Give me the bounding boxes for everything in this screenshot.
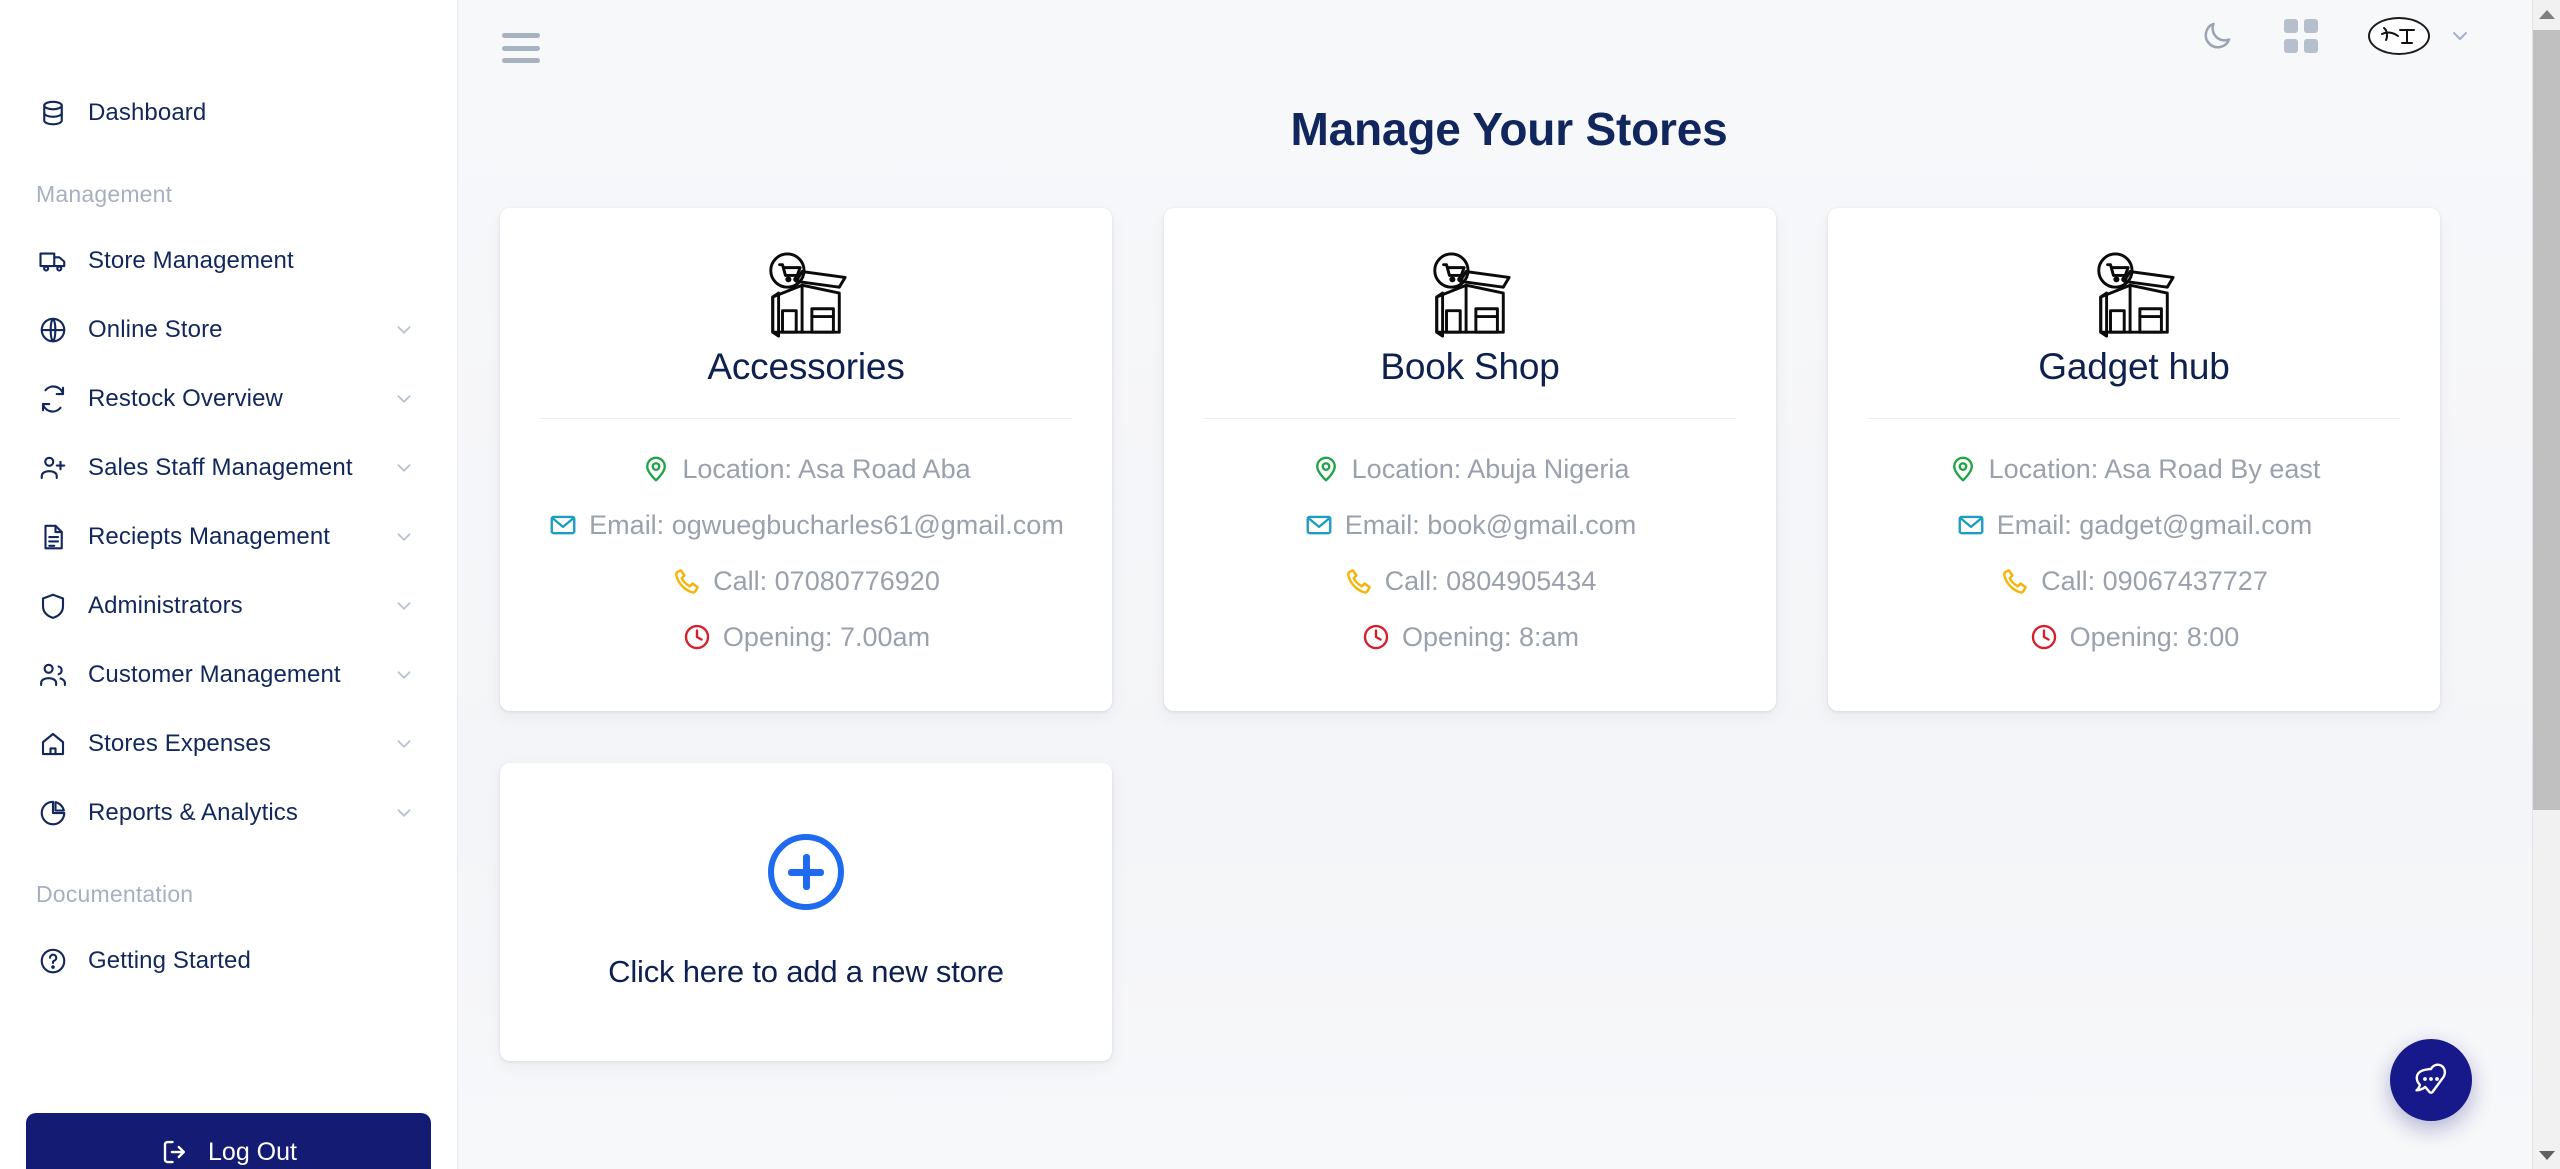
moon-icon[interactable] — [2200, 19, 2234, 53]
scroll-up-button[interactable] — [2533, 0, 2560, 28]
store-location-text: Location: Asa Road By east — [1989, 454, 2321, 485]
sidebar-item-dashboard[interactable]: Dashboard — [0, 78, 457, 147]
sidebar-item-label: Reciepts Management — [88, 523, 393, 551]
add-store-card[interactable]: Click here to add a new store — [500, 763, 1112, 1061]
store-location-row: Location: Asa Road Aba — [534, 441, 1078, 497]
store-location-row: Location: Abuja Nigeria — [1198, 441, 1742, 497]
chevron-down-icon — [2539, 1151, 2555, 1160]
hamburger-bar — [502, 33, 540, 38]
app-root: Dashboard Management Store Management — [0, 0, 2560, 1169]
envelope-icon — [548, 510, 578, 540]
sidebar-item-label: Getting Started — [88, 947, 415, 975]
grid-icon[interactable] — [2284, 19, 2318, 53]
store-location-row: Location: Asa Road By east — [1862, 441, 2406, 497]
scrollbar-thumb[interactable] — [2533, 30, 2560, 810]
envelope-icon — [1304, 510, 1334, 540]
pie-chart-icon — [36, 796, 70, 830]
sidebar-nav: Dashboard Management Store Management — [0, 0, 457, 995]
store-call-row: Call: 09067437727 — [1862, 553, 2406, 609]
store-meta: Location: Asa Road By east Email: gadget… — [1862, 419, 2406, 665]
scroll-down-button[interactable] — [2533, 1141, 2560, 1169]
plus-circle-icon — [768, 834, 844, 910]
logout-label: Log Out — [208, 1138, 297, 1167]
database-icon — [36, 96, 70, 130]
sidebar-item-label: Stores Expenses — [88, 730, 393, 758]
envelope-icon — [1956, 510, 1986, 540]
storefront-icon — [1862, 250, 2406, 342]
store-name: Gadget hub — [1862, 346, 2406, 388]
add-store-label: Click here to add a new store — [608, 954, 1004, 990]
sidebar-item-label: Sales Staff Management — [88, 454, 393, 482]
grid-cell — [2284, 19, 2298, 33]
chevron-down-icon[interactable] — [393, 733, 415, 755]
chevron-down-icon[interactable] — [393, 595, 415, 617]
logout-button[interactable]: Log Out — [26, 1113, 431, 1169]
sidebar-section-management: Management — [0, 147, 457, 226]
store-call-text: Call: 09067437727 — [2041, 566, 2268, 597]
location-pin-icon — [1311, 454, 1341, 484]
shield-icon — [36, 589, 70, 623]
store-email-text: Email: ogwuegbucharles61@gmail.com — [589, 510, 1064, 541]
chat-fab-button[interactable] — [2390, 1039, 2472, 1121]
topbar-actions — [2200, 17, 2472, 55]
sidebar-item-sales-staff-management[interactable]: Sales Staff Management — [0, 433, 457, 502]
globe-icon — [36, 313, 70, 347]
store-card[interactable]: Accessories Location: Asa Road Aba Email… — [500, 208, 1112, 711]
store-location-text: Location: Abuja Nigeria — [1352, 454, 1630, 485]
grid-cell — [2304, 39, 2318, 53]
chevron-down-icon[interactable] — [2448, 24, 2472, 48]
store-location-text: Location: Asa Road Aba — [682, 454, 970, 485]
chevron-up-icon — [2539, 10, 2555, 19]
store-email-row: Email: gadget@gmail.com — [1862, 497, 2406, 553]
sidebar-item-label: Reports & Analytics — [88, 799, 393, 827]
chevron-down-icon[interactable] — [393, 664, 415, 686]
users-icon — [36, 658, 70, 692]
grid-cell — [2284, 39, 2298, 53]
chevron-down-icon[interactable] — [393, 457, 415, 479]
store-card[interactable]: Book Shop Location: Abuja Nigeria Email:… — [1164, 208, 1776, 711]
refresh-icon — [36, 382, 70, 416]
sidebar-item-administrators[interactable]: Administrators — [0, 571, 457, 640]
storefront-icon — [534, 250, 1078, 342]
location-pin-icon — [641, 454, 671, 484]
hamburger-icon[interactable] — [502, 33, 540, 63]
store-call-text: Call: 07080776920 — [713, 566, 940, 597]
sidebar-item-online-store[interactable]: Online Store — [0, 295, 457, 364]
store-opening-text: Opening: 8:00 — [2070, 622, 2240, 653]
storefront-icon — [1198, 250, 1742, 342]
main-content: Manage Your Stores — [458, 0, 2560, 1169]
help-circle-icon — [36, 944, 70, 978]
sidebar-item-reciepts-management[interactable]: Reciepts Management — [0, 502, 457, 571]
clock-icon — [1361, 622, 1391, 652]
store-meta: Location: Asa Road Aba Email: ogwuegbuch… — [534, 419, 1078, 665]
hamburger-bar — [502, 46, 540, 51]
sidebar-item-label: Store Management — [88, 247, 415, 275]
phone-icon — [1344, 566, 1374, 596]
sidebar-item-label: Online Store — [88, 316, 393, 344]
user-menu[interactable] — [2368, 17, 2472, 55]
store-name: Accessories — [534, 346, 1078, 388]
page-title: Manage Your Stores — [458, 102, 2560, 156]
sidebar-item-reports-analytics[interactable]: Reports & Analytics — [0, 778, 457, 847]
truck-icon — [36, 244, 70, 278]
sidebar-item-customer-management[interactable]: Customer Management — [0, 640, 457, 709]
store-opening-text: Opening: 7.00am — [723, 622, 930, 653]
store-opening-row: Opening: 8:am — [1198, 609, 1742, 665]
store-email-row: Email: ogwuegbucharles61@gmail.com — [534, 497, 1078, 553]
store-opening-text: Opening: 8:am — [1402, 622, 1579, 653]
stores-grid: Accessories Location: Asa Road Aba Email… — [458, 156, 2468, 1061]
home-icon — [36, 727, 70, 761]
store-card[interactable]: Gadget hub Location: Asa Road By east Em… — [1828, 208, 2440, 711]
vertical-scrollbar[interactable] — [2532, 0, 2560, 1169]
clock-icon — [682, 622, 712, 652]
location-pin-icon — [1948, 454, 1978, 484]
store-email-row: Email: book@gmail.com — [1198, 497, 1742, 553]
sidebar-item-store-management[interactable]: Store Management — [0, 226, 457, 295]
store-opening-row: Opening: 7.00am — [534, 609, 1078, 665]
hamburger-bar — [502, 58, 540, 63]
sidebar-item-stores-expenses[interactable]: Stores Expenses — [0, 709, 457, 778]
sidebar-item-label: Restock Overview — [88, 385, 393, 413]
avatar — [2368, 17, 2430, 55]
grid-cell — [2304, 19, 2318, 33]
sidebar: Dashboard Management Store Management — [0, 0, 458, 1169]
phone-icon — [2000, 566, 2030, 596]
logout-icon — [160, 1137, 190, 1167]
store-name: Book Shop — [1198, 346, 1742, 388]
chevron-down-icon[interactable] — [393, 802, 415, 824]
store-email-text: Email: book@gmail.com — [1345, 510, 1637, 541]
store-email-text: Email: gadget@gmail.com — [1997, 510, 2313, 541]
phone-icon — [672, 566, 702, 596]
sidebar-item-restock-overview[interactable]: Restock Overview — [0, 364, 457, 433]
sidebar-item-label: Administrators — [88, 592, 393, 620]
sidebar-item-getting-started[interactable]: Getting Started — [0, 926, 457, 995]
store-opening-row: Opening: 8:00 — [1862, 609, 2406, 665]
topbar — [458, 0, 2560, 80]
document-icon — [36, 520, 70, 554]
sidebar-item-label: Dashboard — [88, 99, 415, 127]
chevron-down-icon[interactable] — [393, 319, 415, 341]
store-call-row: Call: 07080776920 — [534, 553, 1078, 609]
sidebar-section-documentation: Documentation — [0, 847, 457, 926]
store-call-row: Call: 0804905434 — [1198, 553, 1742, 609]
chevron-down-icon[interactable] — [393, 388, 415, 410]
chat-bubble-icon — [2408, 1059, 2454, 1101]
clock-icon — [2029, 622, 2059, 652]
sidebar-item-label: Customer Management — [88, 661, 393, 689]
user-plus-icon — [36, 451, 70, 485]
store-meta: Location: Abuja Nigeria Email: book@gmai… — [1198, 419, 1742, 665]
chevron-down-icon[interactable] — [393, 526, 415, 548]
store-call-text: Call: 0804905434 — [1385, 566, 1597, 597]
